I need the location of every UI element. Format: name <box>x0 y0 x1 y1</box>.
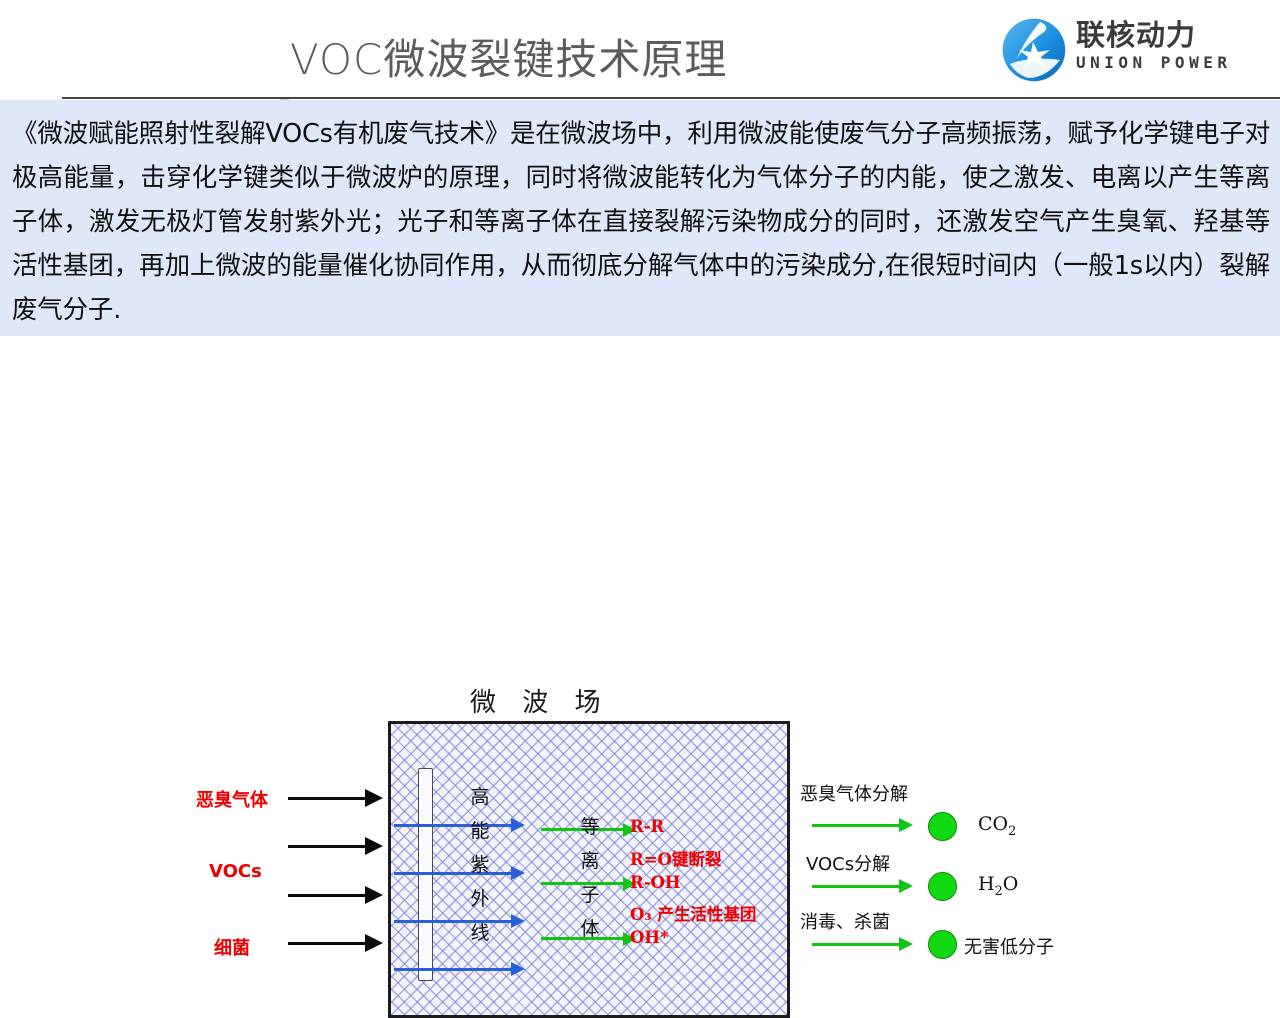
inlet-arrow-1-icon <box>288 797 366 800</box>
title-divider <box>62 97 1280 99</box>
page-header: VOC微波裂键技术原理 联核动力 UNION PO <box>0 0 1280 98</box>
microwave-field-title: 微 波 场 <box>470 682 730 719</box>
brand-wordmark: 联核动力 UNION POWER <box>1076 18 1266 74</box>
brand-name-en: UNION POWER <box>1076 52 1266 74</box>
uv-arrow-2-icon <box>394 872 512 875</box>
output-process-vocs-decomposition: VOCs分解 <box>806 850 890 876</box>
output-dot-1-icon <box>928 812 957 841</box>
inlet-label-bacteria: 细菌 <box>214 934 250 960</box>
uv-char-2: 能 <box>468 814 492 848</box>
product-text-ro-bond-break: R=O键断裂 <box>630 846 721 870</box>
uv-arrow-1-icon <box>394 824 512 827</box>
output-arrow-2-icon <box>812 885 900 888</box>
page-title: VOC微波裂键技术原理 <box>290 26 850 87</box>
uv-char-4: 外 <box>468 882 492 916</box>
plasma-char-1: 等 <box>578 810 602 844</box>
product-text-oh-radical: OH* <box>630 928 669 947</box>
output-product-co2: CO2 <box>978 813 1016 839</box>
product-text-ozone-radicals: O₃ 产生活性基团 <box>630 901 756 925</box>
output-product-h2o: H2O <box>978 873 1018 899</box>
description-panel: 《微波赋能照射性裂解VOCs有机废气技术》是在微波场中，利用微波能使废气分子高频… <box>0 100 1280 376</box>
brand-logo: 联核动力 UNION POWER <box>1000 16 1270 86</box>
inlet-arrow-4-icon <box>288 942 366 945</box>
plasma-char-3: 子 <box>578 878 602 912</box>
plasma-char-2: 离 <box>578 844 602 878</box>
output-dot-2-icon <box>928 872 957 901</box>
union-power-globe-icon <box>1000 16 1068 84</box>
output-process-disinfection-sterilization: 消毒、杀菌 <box>800 908 890 934</box>
uv-vertical-label: 高 能 紫 外 线 <box>468 780 492 950</box>
output-dot-3-icon <box>928 930 957 959</box>
plasma-vertical-label: 等 离 子 体 <box>578 810 602 946</box>
product-text-r-r: R-R <box>630 817 664 836</box>
inlet-label-vocs: VOCs <box>209 861 262 882</box>
output-product-harmless-small-molecules: 无害低分子 <box>964 933 1054 959</box>
uv-arrow-3-icon <box>394 920 512 923</box>
description-text: 《微波赋能照射性裂解VOCs有机废气技术》是在微波场中，利用微波能使废气分子高频… <box>12 112 1270 332</box>
inlet-arrow-2-icon <box>288 845 366 848</box>
plasma-char-4: 体 <box>578 912 602 946</box>
inlet-arrow-3-icon <box>288 894 366 897</box>
uv-char-3: 紫 <box>468 848 492 882</box>
uv-char-1: 高 <box>468 780 492 814</box>
output-arrow-3-icon <box>812 943 900 946</box>
product-text-r-oh: R-OH <box>630 873 681 892</box>
process-diagram: 微 波 场 恶臭气体 VOCs 细菌 高 能 紫 外 线 等 离 子 体 R-R… <box>0 336 1280 720</box>
uv-char-5: 线 <box>468 916 492 950</box>
output-arrow-1-icon <box>812 824 900 827</box>
output-process-odorous-gas-decomposition: 恶臭气体分解 <box>800 780 908 806</box>
uv-arrow-4-icon <box>394 968 512 971</box>
inlet-label-odorous-gas: 恶臭气体 <box>196 786 268 812</box>
brand-name-cn: 联核动力 <box>1076 18 1266 52</box>
